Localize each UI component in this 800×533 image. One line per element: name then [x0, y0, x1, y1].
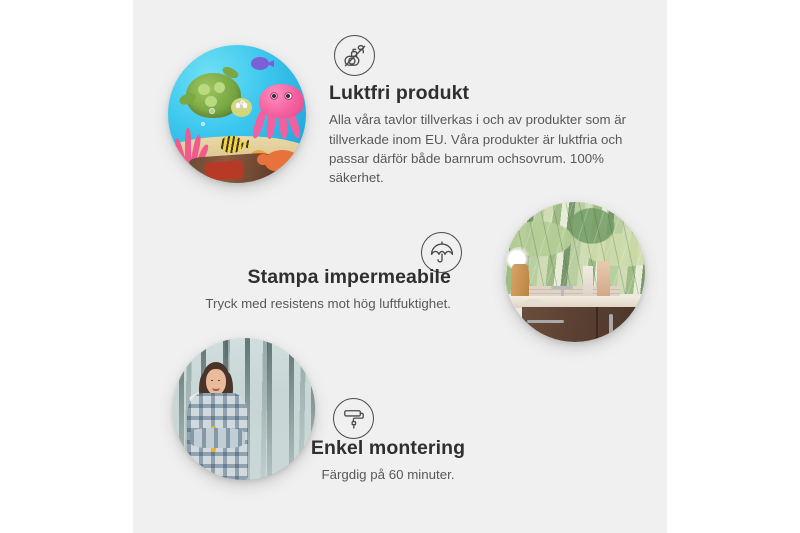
content-panel: Luktfri produkt Alla våra tavlor tillver… — [133, 0, 667, 533]
waterproof-print-body: Tryck med resistens mot hög luftfuktighe… — [143, 294, 451, 313]
drawer-handle — [527, 320, 563, 323]
door-handle — [609, 314, 613, 336]
waterproof-print-text: Stampa impermeabile Tryck med resistens … — [143, 266, 451, 314]
odour-free-body: Alla våra tavlor tillverkas i och av pro… — [329, 110, 639, 187]
waterproof-print-title: Stampa impermeabile — [143, 266, 451, 288]
paint-roller-icon — [333, 398, 374, 439]
bathroom-scene — [505, 202, 645, 342]
soap-dish — [525, 299, 543, 306]
bottle-white — [583, 266, 593, 298]
odour-free-text: Luktfri produkt Alla våra tavlor tillver… — [329, 82, 639, 187]
bottle-tan — [597, 261, 610, 300]
underwater-cartoon-scene-image — [168, 45, 306, 183]
easy-assembly-text: Enkel montering Färgdig på 60 minuter. — [255, 437, 521, 485]
easy-assembly-title: Enkel montering — [255, 437, 521, 459]
fish-purple — [251, 57, 269, 69]
no-odour-perfume-bottle-icon — [334, 35, 375, 76]
crab — [265, 150, 301, 172]
face — [206, 369, 225, 395]
bathroom-vanity-wallpaper-image — [505, 202, 645, 342]
odour-free-title: Luktfri produkt — [329, 82, 639, 104]
octopus — [251, 84, 306, 139]
sea-scene — [168, 45, 306, 183]
folded-arms — [190, 428, 245, 448]
vanity-cabinet — [522, 307, 645, 342]
octopus-head — [259, 84, 304, 118]
product-feature-infographic: Luktfri produkt Alla våra tavlor tillver… — [0, 0, 800, 533]
easy-assembly-body: Färgdig på 60 minuter. — [255, 465, 521, 484]
fish-yellow — [220, 136, 242, 153]
